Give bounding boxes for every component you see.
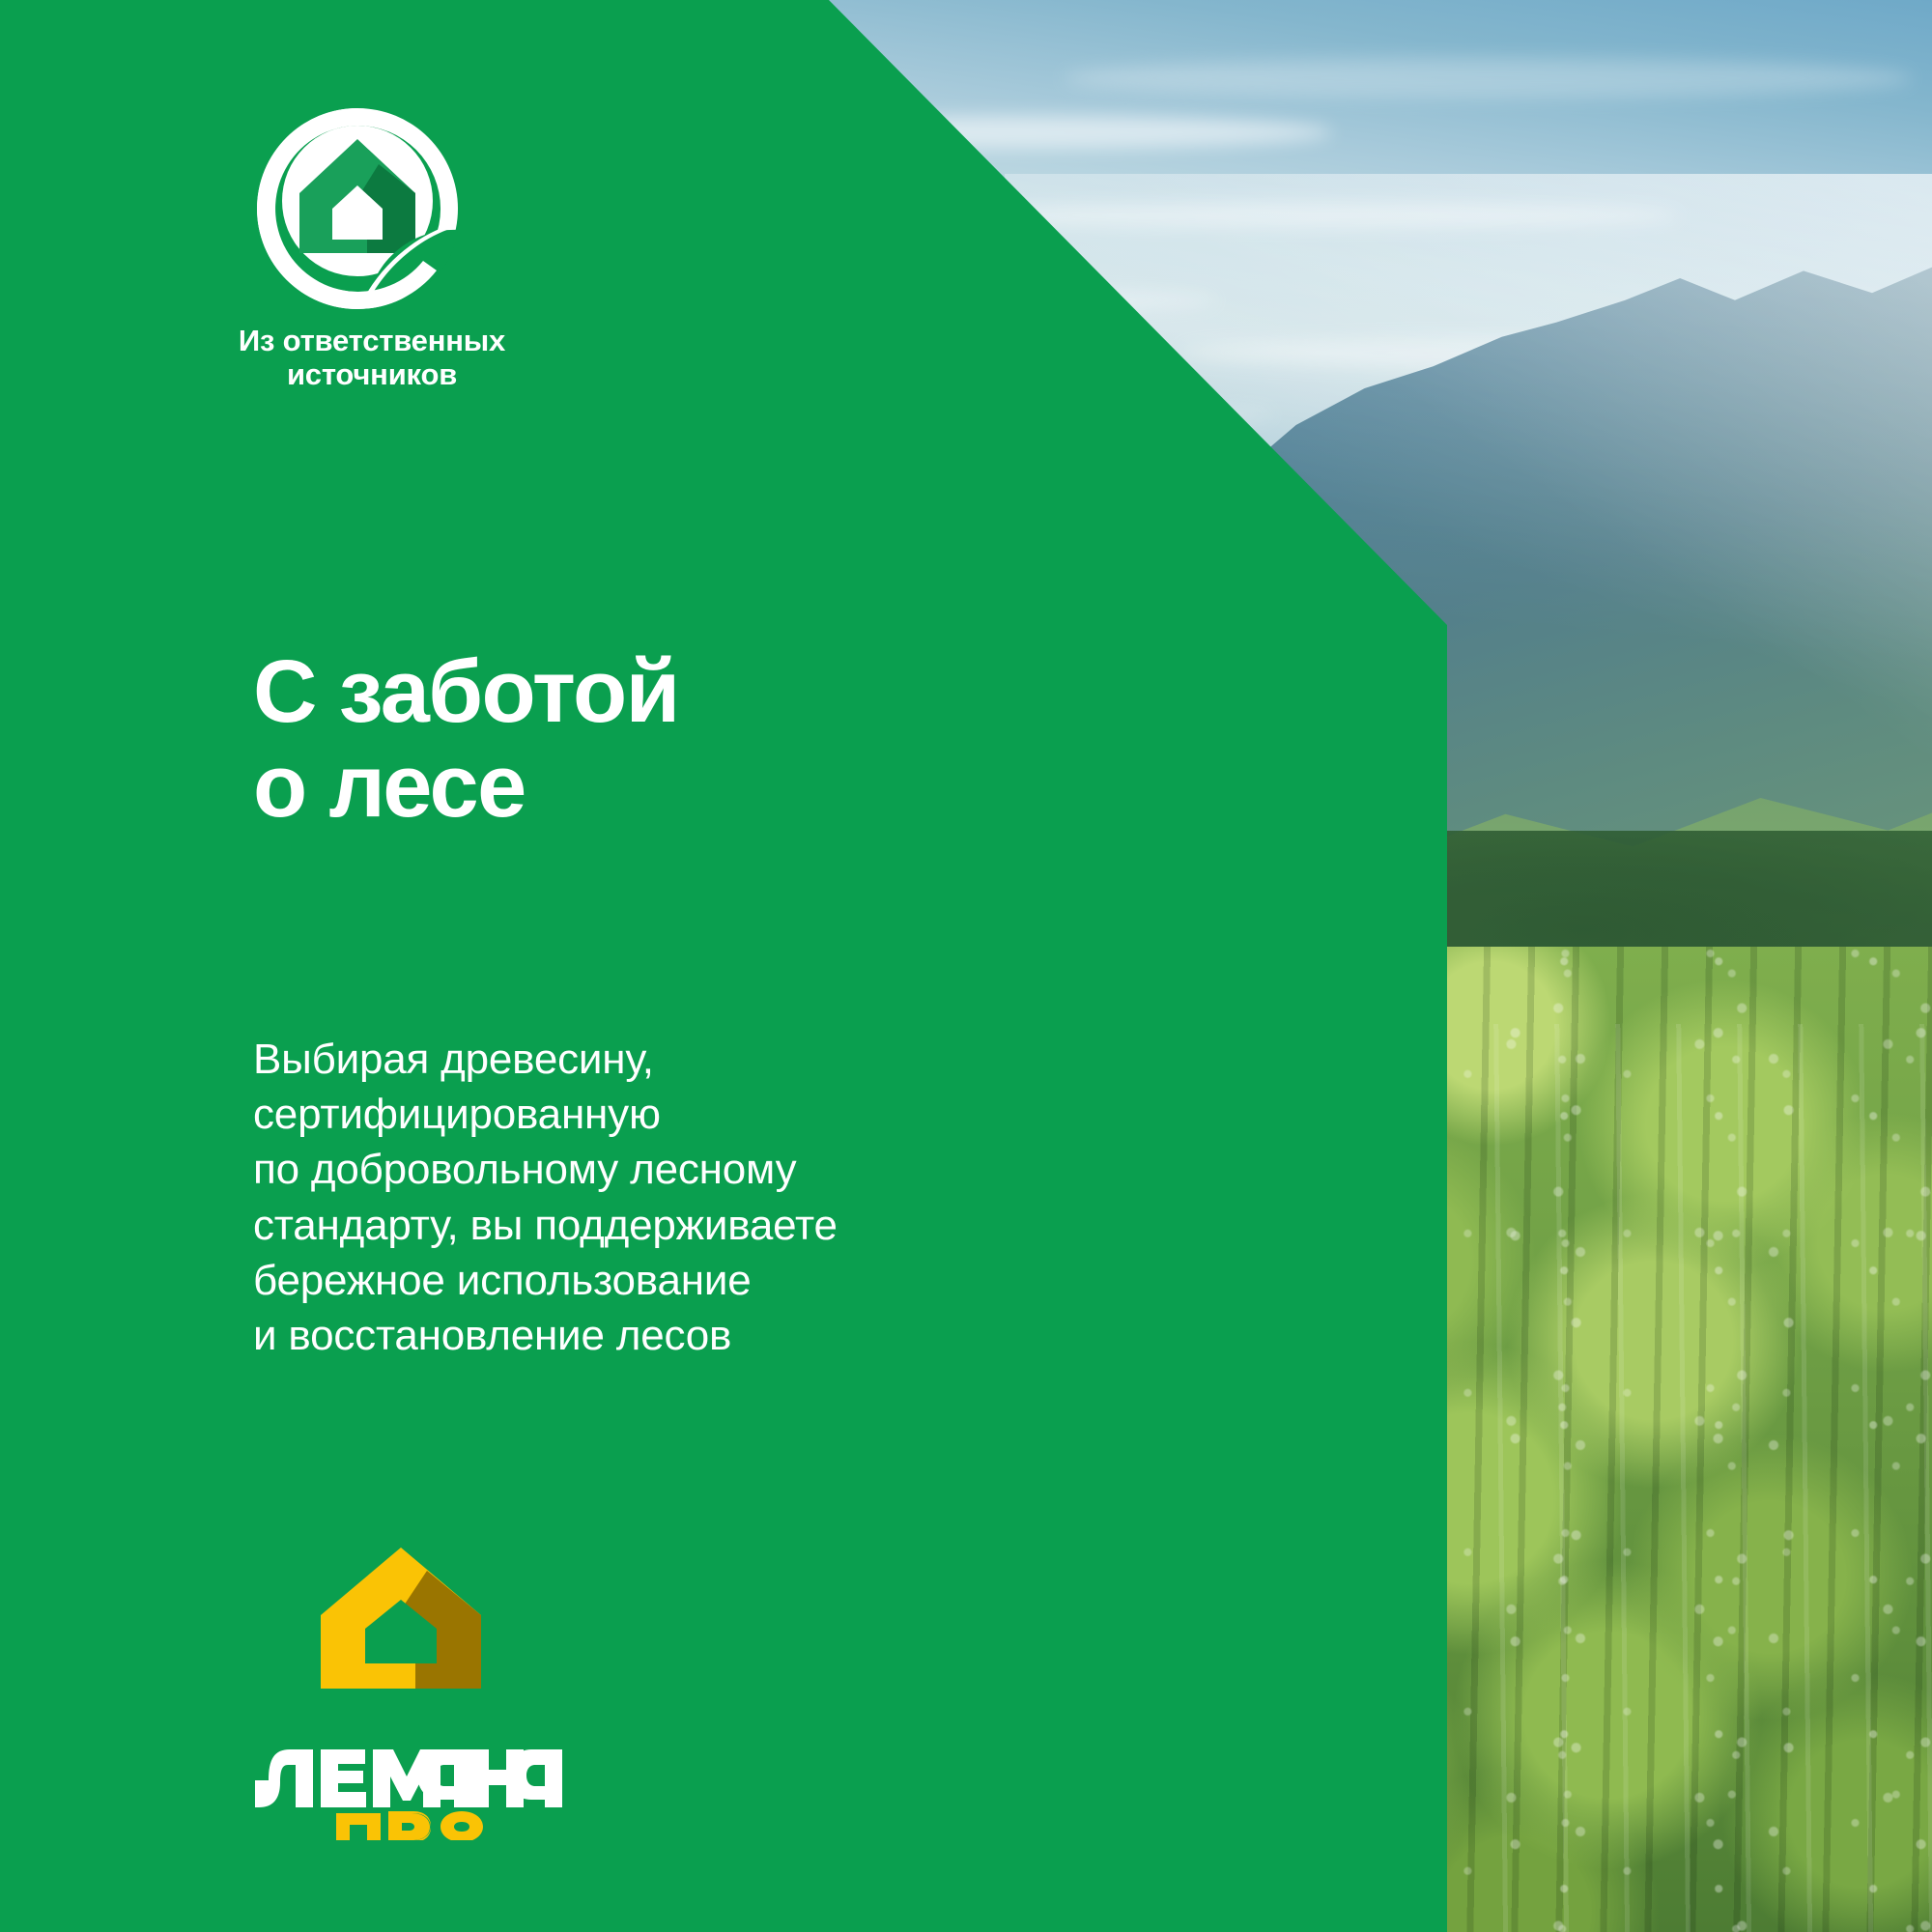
poster-content: Из ответственных источников С заботой о … bbox=[0, 0, 1932, 1932]
responsible-sources-badge: Из ответственных источников bbox=[253, 104, 485, 298]
house-leaf-in-circle-icon bbox=[253, 104, 462, 313]
lemana-house-icon bbox=[319, 1546, 483, 1690]
body-line-2: сертифицированную bbox=[253, 1087, 1045, 1142]
lemana-pro-wordmark bbox=[253, 1713, 562, 1840]
lemana-pro-logo bbox=[253, 1546, 562, 1840]
body-line-3: по добровольному лесному bbox=[253, 1142, 1045, 1197]
body-line-4: стандарту, вы поддерживаете bbox=[253, 1198, 1045, 1253]
body-line-1: Выбирая древесину, bbox=[253, 1032, 1045, 1087]
headline-line-2: о лесе bbox=[253, 740, 1007, 835]
page-title: С заботой о лесе bbox=[253, 645, 1007, 834]
headline-line-1: С заботой bbox=[253, 645, 1007, 740]
badge-caption-line-2: источников bbox=[203, 358, 541, 392]
badge-caption: Из ответственных источников bbox=[203, 325, 541, 391]
body-line-5: бережное использование bbox=[253, 1253, 1045, 1308]
body-paragraph: Выбирая древесину, сертифицированную по … bbox=[253, 1032, 1045, 1363]
body-line-6: и восстановление лесов bbox=[253, 1308, 1045, 1363]
badge-caption-line-1: Из ответственных bbox=[203, 325, 541, 358]
